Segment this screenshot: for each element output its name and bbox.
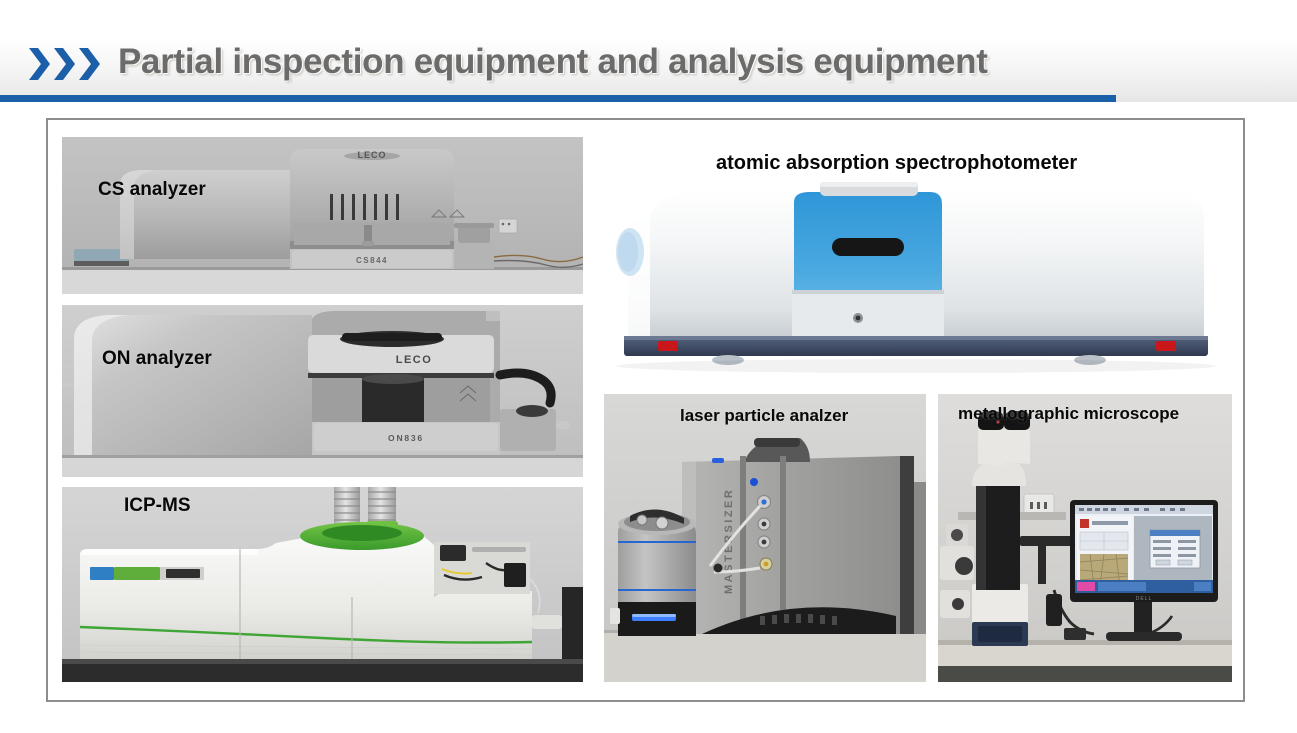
svg-text:CS844: CS844 xyxy=(356,256,388,265)
panel-atomic-absorption: atomic absorption spectrophotometer xyxy=(604,130,1232,380)
slide-title: Partial inspection equipment and analysi… xyxy=(118,42,988,82)
panel-laser-particle-analyzer: MASTERSIZER xyxy=(604,394,926,682)
chevron-right-icon-1 xyxy=(28,47,50,81)
content-frame: LECO CS844 CS analyzer xyxy=(46,118,1245,702)
svg-text:DELL: DELL xyxy=(1136,596,1153,602)
laser-particle-analyzer-photo: MASTERSIZER xyxy=(604,394,926,682)
power-indicator-left xyxy=(658,341,678,351)
power-indicator-right xyxy=(1156,341,1176,351)
panel-label-atomic-absorption: atomic absorption spectrophotometer xyxy=(716,152,1077,175)
panel-label-laser-particle-analyzer: laser particle analzer xyxy=(680,406,848,426)
on-analyzer-photo: LECO ON836 xyxy=(62,305,583,477)
svg-text:LECO: LECO xyxy=(357,150,386,160)
panel-label-cs-analyzer: CS analyzer xyxy=(98,179,206,201)
chevron-right-icon-3 xyxy=(78,47,100,81)
chevron-group xyxy=(28,47,100,81)
svg-text:LECO: LECO xyxy=(396,354,433,366)
panel-label-metallographic-microscope: metallographic microscope xyxy=(958,404,1179,424)
chevron-right-icon-2 xyxy=(53,47,75,81)
panel-icp-ms: ICP-MS xyxy=(62,487,583,682)
panel-cs-analyzer: LECO CS844 CS analyzer xyxy=(62,137,583,294)
panel-metallographic-microscope: DELL metallographic microscope xyxy=(938,394,1232,682)
panel-on-analyzer: LECO ON836 ON analyzer xyxy=(62,305,583,477)
svg-text:ON836: ON836 xyxy=(388,433,424,443)
slide-header: Partial inspection equipment and analysi… xyxy=(0,0,1297,102)
panel-label-icp-ms: ICP-MS xyxy=(124,495,191,517)
metallographic-microscope-photo: DELL xyxy=(938,394,1232,682)
cs-analyzer-photo: LECO CS844 xyxy=(62,137,583,294)
header-underline-rule xyxy=(0,95,1116,102)
panel-label-on-analyzer: ON analyzer xyxy=(102,348,212,370)
